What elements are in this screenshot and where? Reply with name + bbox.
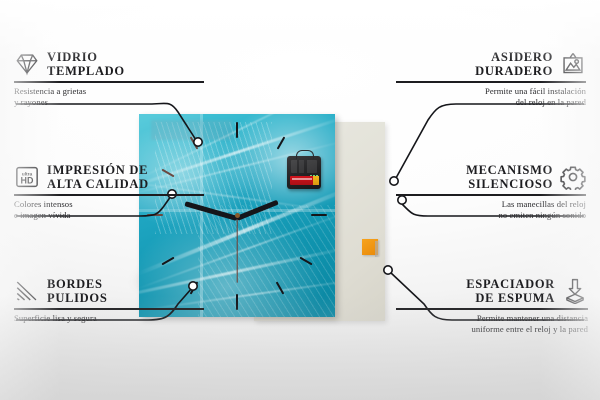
feature-header: BORDES PULIDOS — [14, 277, 204, 305]
feature-title: BORDES PULIDOS — [47, 277, 107, 305]
feature-desc: Permite mantener una distancia uniforme … — [396, 313, 588, 335]
feature-desc: Permite una fácil instalación del reloj … — [396, 86, 586, 108]
battery-label — [292, 178, 312, 180]
feature-desc-line2: uniforme entre el reloj y la pared — [396, 324, 588, 335]
feature-desc-line1: Las manecillas del reloj — [396, 199, 586, 210]
clock-tick-6 — [236, 294, 238, 310]
diagonal-lines-icon — [14, 278, 40, 304]
feature-title-line1: ASIDERO — [475, 50, 553, 64]
feature-desc-line2: e imagen vívida — [14, 210, 204, 221]
mechanism-battery — [290, 176, 319, 185]
clock-center-pin — [235, 213, 240, 218]
feature-title: MECANISMO SILENCIOSO — [466, 163, 553, 191]
ultra-hd-large-text: HD — [21, 176, 34, 186]
arrow-onto-pad-icon — [562, 278, 588, 304]
feature-desc: Superficie lisa y segura — [14, 313, 204, 324]
feature-espaciador-de-espuma: ESPACIADOR DE ESPUMA Permite mantener un… — [396, 277, 588, 335]
feature-desc: Resistencia a grietas y rayones — [14, 86, 204, 108]
feature-title: ASIDERO DURADERO — [475, 50, 553, 78]
clock-tick-12 — [236, 122, 238, 138]
feature-title-line2: TEMPLADO — [47, 64, 125, 78]
feature-desc-line1: Permite mantener una distancia — [396, 313, 588, 324]
feature-desc-line1: Colores intensos — [14, 199, 204, 210]
feature-desc-line1: Resistencia a grietas — [14, 86, 204, 97]
feature-divider — [14, 81, 204, 83]
feature-title-line1: VIDRIO — [47, 50, 125, 64]
feature-divider — [396, 308, 588, 310]
feature-title-line2: PULIDOS — [47, 291, 107, 305]
feature-desc-line2: y rayones — [14, 97, 204, 108]
feature-desc-line1: Permite una fácil instalación — [396, 86, 586, 97]
feature-title-line2: SILENCIOSO — [466, 177, 553, 191]
product-infographic: VIDRIO TEMPLADO Resistencia a grietas y … — [0, 0, 600, 400]
feature-bordes-pulidos: BORDES PULIDOS Superficie lisa y segura — [14, 277, 204, 324]
hanging-picture-frame-icon — [560, 51, 586, 77]
feature-desc: Colores intensos e imagen vívida — [14, 199, 204, 221]
clock-second-hand — [236, 216, 237, 282]
feature-title: ESPACIADOR DE ESPUMA — [466, 277, 555, 305]
feature-title-line1: BORDES — [47, 277, 107, 291]
feature-title-line1: IMPRESIÓN DE — [47, 163, 149, 177]
feature-title: VIDRIO TEMPLADO — [47, 50, 125, 78]
feature-title-line1: ESPACIADOR — [466, 277, 555, 291]
feature-title-line2: DE ESPUMA — [466, 291, 555, 305]
feature-divider — [14, 194, 204, 196]
feature-mecanismo-silencioso: MECANISMO SILENCIOSO Las manecillas del … — [396, 163, 586, 221]
feature-title-line2: DURADERO — [475, 64, 553, 78]
ultra-hd-badge-icon: ultra HD — [14, 164, 40, 190]
feature-title-line1: MECANISMO — [466, 163, 553, 177]
feature-divider — [396, 81, 586, 83]
feature-divider — [14, 308, 204, 310]
feature-title: IMPRESIÓN DE ALTA CALIDAD — [47, 163, 149, 191]
feature-header: VIDRIO TEMPLADO — [14, 50, 204, 78]
feature-impresion-alta-calidad: ultra HD IMPRESIÓN DE ALTA CALIDAD Color… — [14, 163, 204, 221]
feature-header: ASIDERO DURADERO — [396, 50, 586, 78]
clock-mechanism — [287, 156, 321, 189]
feature-title-line2: ALTA CALIDAD — [47, 177, 149, 191]
feature-vidrio-templado: VIDRIO TEMPLADO Resistencia a grietas y … — [14, 50, 204, 108]
feature-header: ultra HD IMPRESIÓN DE ALTA CALIDAD — [14, 163, 204, 191]
mechanism-hanger-hook — [296, 150, 314, 159]
feature-desc-line2: no emiten ningún sonido — [396, 210, 586, 221]
feature-header: ESPACIADOR DE ESPUMA — [396, 277, 588, 305]
gear-icon — [560, 164, 586, 190]
feature-header: MECANISMO SILENCIOSO — [396, 163, 586, 191]
feature-desc-line1: Superficie lisa y segura — [14, 313, 204, 324]
feature-divider — [396, 194, 586, 196]
feature-asidero-duradero: ASIDERO DURADERO Permite una fácil insta… — [396, 50, 586, 108]
wire-dot-espaciador — [384, 266, 392, 274]
feature-desc-line2: del reloj en la pared — [396, 97, 586, 108]
mechanism-embossing — [291, 160, 317, 173]
feature-desc: Las manecillas del reloj no emiten ningú… — [396, 199, 586, 221]
foam-spacer-pad — [362, 239, 378, 255]
diamond-icon — [14, 51, 40, 77]
